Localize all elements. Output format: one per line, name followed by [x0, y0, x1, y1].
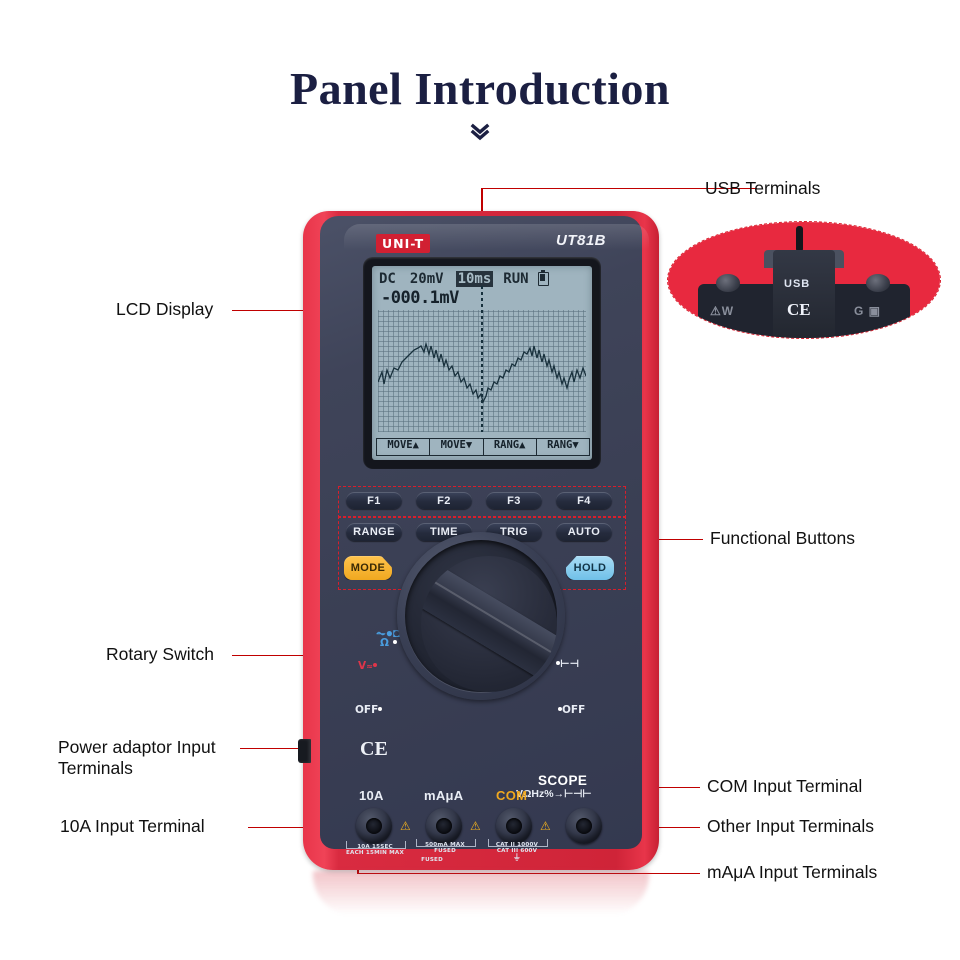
earth-ground-icon: ⏚ — [510, 855, 524, 861]
scope-functions-label: VΩHz%→⊢⊣⊢ — [516, 788, 592, 800]
annotation-other-terminals: Other Input Terminals — [707, 816, 874, 837]
page-title: Panel Introduction — [0, 62, 960, 115]
power-adaptor-jack[interactable] — [298, 739, 311, 763]
lcd-softkey-bar: MOVE▲ MOVE▼ RANG▲ RANG▼ — [376, 438, 590, 456]
annotation-functional-buttons: Functional Buttons — [710, 528, 855, 549]
multimeter-device: UNI-T UT81B DC 20mV 10ms RUN -000.1mV — [303, 211, 659, 870]
lcd-waveform — [378, 310, 586, 432]
button-f1[interactable]: F1 — [346, 492, 402, 509]
button-f2[interactable]: F2 — [416, 492, 472, 509]
button-range[interactable]: RANGE — [346, 523, 402, 541]
model-label: UT81B — [556, 232, 606, 249]
annotation-rotary-switch: Rotary Switch — [106, 644, 214, 665]
warning-triangle-icon-2: ⚠ — [470, 820, 481, 832]
lcd-coupling: DC — [379, 271, 396, 287]
rotary-switch-ring — [405, 540, 557, 692]
usb-cable-icon — [796, 226, 803, 252]
usb-port-cover[interactable] — [773, 250, 835, 339]
softkey-move-down[interactable]: MOVE▼ — [430, 439, 483, 455]
usb-inset-right-text: G ▣ — [854, 304, 881, 318]
dial-position-ohm[interactable]: Ω — [380, 637, 397, 649]
leader-usb-horizontal — [481, 188, 699, 189]
jack-scope-volt[interactable] — [566, 808, 602, 844]
dial-position-off-right[interactable]: OFF — [558, 704, 585, 716]
annotation-maua-terminals: mAμA Input Terminals — [707, 862, 877, 883]
fineprint-bracket-maua — [416, 839, 476, 847]
ce-mark: CE — [360, 738, 388, 761]
terminal-label-10a: 10A — [359, 788, 384, 803]
screw-left-icon — [716, 274, 740, 292]
device-reflection — [313, 871, 649, 915]
softkey-move-up[interactable]: MOVE▲ — [377, 439, 430, 455]
annotation-com-terminal: COM Input Terminal — [707, 776, 862, 797]
battery-icon — [538, 272, 549, 286]
lcd-bezel: DC 20mV 10ms RUN -000.1mV MOVE▲ MOVE▼ — [363, 257, 601, 469]
warning-triangle-icon-3: ⚠ — [540, 820, 551, 832]
annotation-usb-terminals: USB Terminals — [705, 178, 820, 199]
lcd-range: 20mV — [410, 271, 444, 287]
jack-10a[interactable] — [356, 808, 392, 844]
annotation-lcd-display: LCD Display — [116, 299, 213, 320]
softkey-range-down[interactable]: RANG▼ — [537, 439, 589, 455]
dial-position-off-left[interactable]: OFF — [355, 704, 382, 716]
rotary-switch[interactable] — [397, 532, 565, 700]
page-root: Panel Introduction /* render chevron as … — [0, 0, 960, 960]
brand-logo: UNI-T — [376, 234, 430, 253]
lcd-run-status: RUN — [503, 271, 528, 287]
device-front-panel: UNI-T UT81B DC 20mV 10ms RUN -000.1mV — [320, 216, 642, 849]
usb-inset-ellipse: ⚠W G ▣ USB CE — [667, 221, 941, 339]
button-auto[interactable]: AUTO — [556, 523, 612, 541]
lcd-timebase: 10ms — [456, 271, 494, 287]
fineprint-bracket-cat — [488, 839, 548, 847]
rotary-switch-pointer — [421, 561, 557, 685]
annotation-10a-terminal: 10A Input Terminal — [60, 816, 205, 837]
button-f3[interactable]: F3 — [486, 492, 542, 509]
usb-inset-left-text: ⚠W — [710, 304, 734, 318]
scope-title: SCOPE — [538, 773, 587, 788]
lcd-display[interactable]: DC 20mV 10ms RUN -000.1mV MOVE▲ MOVE▼ — [372, 266, 592, 460]
usb-port-label: USB — [784, 278, 810, 290]
rotary-switch-knob[interactable] — [421, 556, 557, 692]
dial-position-v[interactable]: V≈ — [358, 660, 377, 672]
terminal-label-com: COM — [496, 788, 527, 803]
screw-right-icon — [866, 274, 890, 292]
softkey-range-up[interactable]: RANG▲ — [484, 439, 537, 455]
dial-position-capacitance[interactable]: ⊢⊣ — [556, 658, 579, 670]
usb-terminal-inset: ⚠W G ▣ USB CE — [667, 221, 939, 337]
double-chevron-down-icon — [0, 120, 960, 146]
annotation-power-adaptor: Power adaptor Input Terminals — [58, 737, 268, 779]
terminal-label-maua: mAμA — [424, 788, 464, 803]
fineprint-fused: FUSED — [412, 857, 452, 863]
fineprint-bracket-10a — [346, 841, 406, 849]
warning-triangle-icon-1: ⚠ — [400, 820, 411, 832]
usb-ce-mark: CE — [787, 300, 811, 320]
button-f4[interactable]: F4 — [556, 492, 612, 509]
